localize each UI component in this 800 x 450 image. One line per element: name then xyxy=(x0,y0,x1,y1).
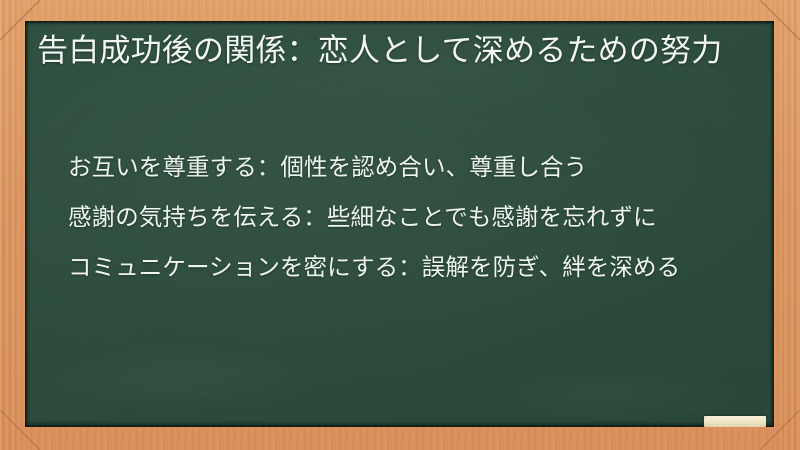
bullet-list: お互いを尊重する：個性を認め合い、尊重し合う 感謝の気持ちを伝える：些細なことで… xyxy=(37,149,753,299)
chalk-stick-icon xyxy=(704,416,766,427)
frame-left-rail xyxy=(0,0,26,450)
bullet-item-1: お互いを尊重する：個性を認め合い、尊重し合う xyxy=(37,149,753,185)
chalkboard-slide: 告白成功後の関係：恋人として深めるための努力 お互いを尊重する：個性を認め合い、… xyxy=(0,0,800,450)
blackboard-surface: 告白成功後の関係：恋人として深めるための努力 お互いを尊重する：個性を認め合い、… xyxy=(25,21,774,427)
slide-title: 告白成功後の関係：恋人として深めるための努力 xyxy=(37,29,749,72)
frame-right-rail xyxy=(774,0,800,450)
bullet-item-3: コミュニケーションを密にする：誤解を防ぎ、絆を深める xyxy=(37,249,753,285)
bullet-item-2: 感謝の気持ちを伝える：些細なことでも感謝を忘れずに xyxy=(37,199,753,235)
